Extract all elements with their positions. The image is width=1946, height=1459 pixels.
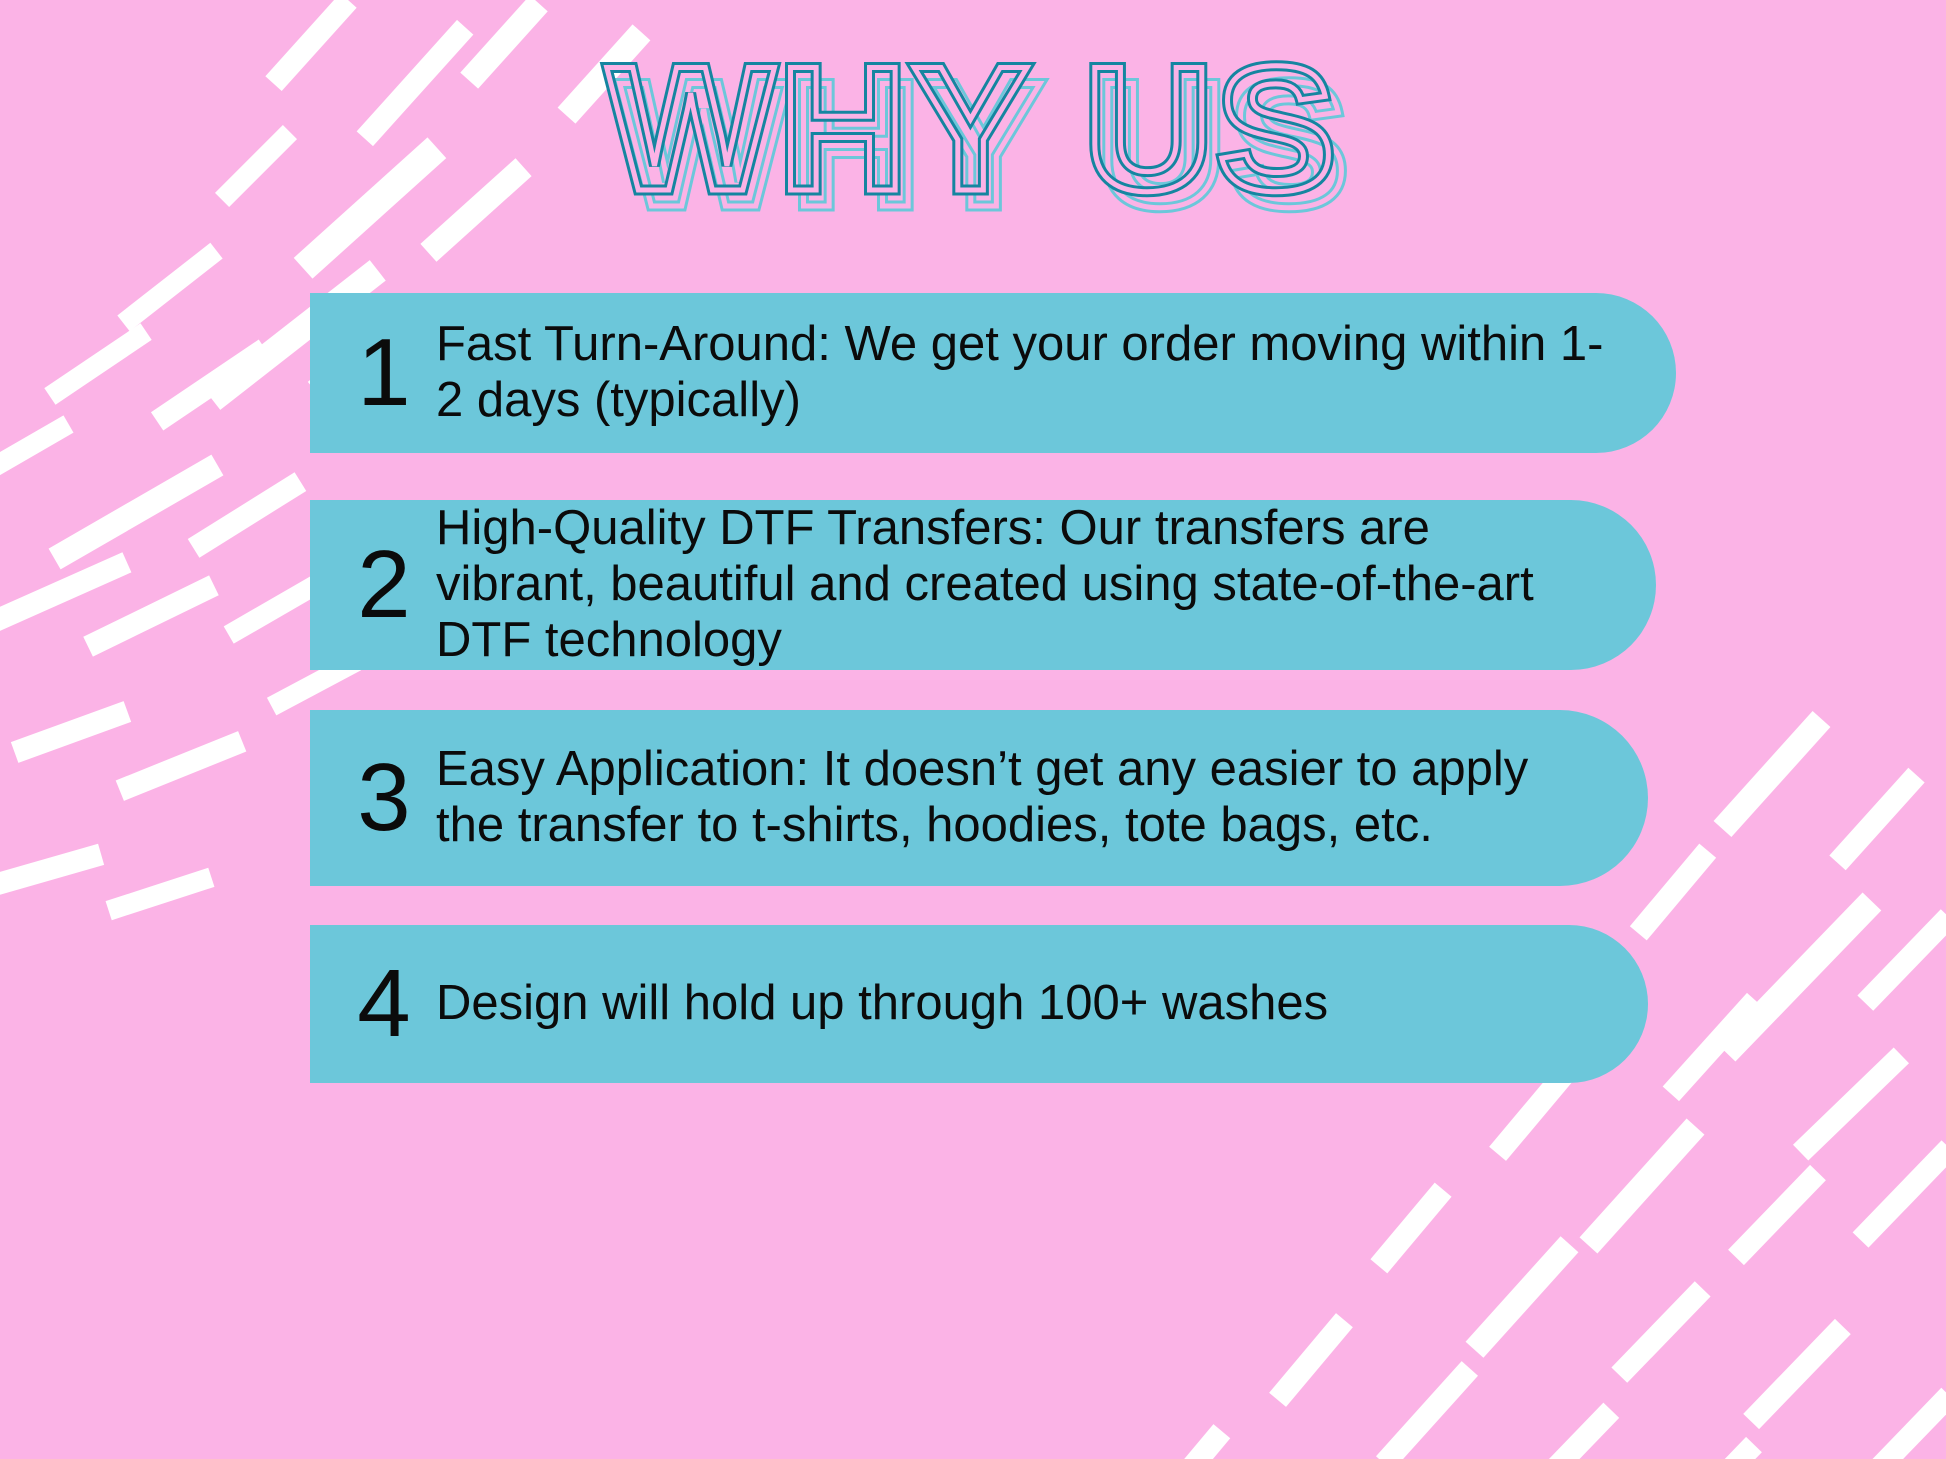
dash-bottom-right-13 xyxy=(1466,1236,1579,1358)
dash-bottom-right-14 xyxy=(1611,1281,1710,1383)
dash-bottom-right-6 xyxy=(1663,993,1764,1101)
dash-bottom-right-17 xyxy=(1376,1361,1478,1459)
benefit-text-3: Easy Application: It doesn’t get any eas… xyxy=(436,742,1648,854)
benefit-text-4: Design will hold up through 100+ washes xyxy=(436,976,1648,1032)
dash-top-left-15 xyxy=(0,552,131,658)
dash-top-left-7 xyxy=(117,243,222,331)
dash-top-left-18 xyxy=(11,701,131,763)
benefit-card-3: 3 Easy Application: It doesn’t get any e… xyxy=(310,710,1648,886)
dash-top-left-19 xyxy=(116,731,247,801)
dash-top-left-12 xyxy=(0,415,73,488)
dash-bottom-right-0 xyxy=(1714,711,1831,837)
dash-top-left-22 xyxy=(106,868,215,920)
dash-bottom-right-12 xyxy=(1370,1183,1451,1274)
poster-canvas: WHY US WHY US WHY US WHY US 1 Fast Turn-… xyxy=(0,0,1946,1459)
benefit-card-1: 1 Fast Turn-Around: We get your order mo… xyxy=(310,293,1676,453)
dash-bottom-right-16 xyxy=(1269,1313,1353,1407)
benefit-card-4: 4 Design will hold up through 100+ washe… xyxy=(310,925,1648,1083)
dash-top-left-21 xyxy=(0,844,104,906)
dash-bottom-right-18 xyxy=(1523,1403,1619,1459)
dash-bottom-right-21 xyxy=(1664,1437,1762,1459)
dash-bottom-right-19 xyxy=(1865,1388,1946,1459)
dash-top-left-16 xyxy=(83,575,218,656)
dash-bottom-right-15 xyxy=(1743,1319,1851,1429)
page-title: WHY US WHY US WHY US WHY US xyxy=(0,36,1946,226)
dash-bottom-right-3 xyxy=(1717,892,1882,1061)
benefit-card-2: 2 High-Quality DTF Transfers: Our transf… xyxy=(310,500,1656,670)
dash-top-left-17 xyxy=(224,576,321,643)
dash-top-left-10 xyxy=(151,340,271,431)
dash-bottom-right-9 xyxy=(1580,1119,1705,1254)
dash-bottom-right-4 xyxy=(1857,909,1946,1011)
dash-bottom-right-20 xyxy=(1152,1424,1231,1459)
benefit-text-2: High-Quality DTF Transfers: Our transfer… xyxy=(436,501,1656,669)
benefit-number-3: 3 xyxy=(338,750,430,846)
dash-bottom-right-11 xyxy=(1853,1140,1946,1247)
benefit-number-4: 4 xyxy=(338,956,430,1052)
dash-top-left-14 xyxy=(188,472,307,557)
title-inner-layer: WHY US xyxy=(0,36,1946,222)
dash-bottom-right-1 xyxy=(1829,768,1924,870)
benefit-number-2: 2 xyxy=(338,537,430,633)
benefit-text-1: Fast Turn-Around: We get your order movi… xyxy=(436,317,1676,429)
dash-bottom-right-2 xyxy=(1630,844,1716,941)
dash-bottom-right-7 xyxy=(1793,1047,1909,1160)
dash-bottom-right-10 xyxy=(1728,1165,1826,1265)
dash-top-left-13 xyxy=(49,455,224,570)
benefit-number-1: 1 xyxy=(338,325,430,421)
dash-top-left-9 xyxy=(44,323,151,404)
